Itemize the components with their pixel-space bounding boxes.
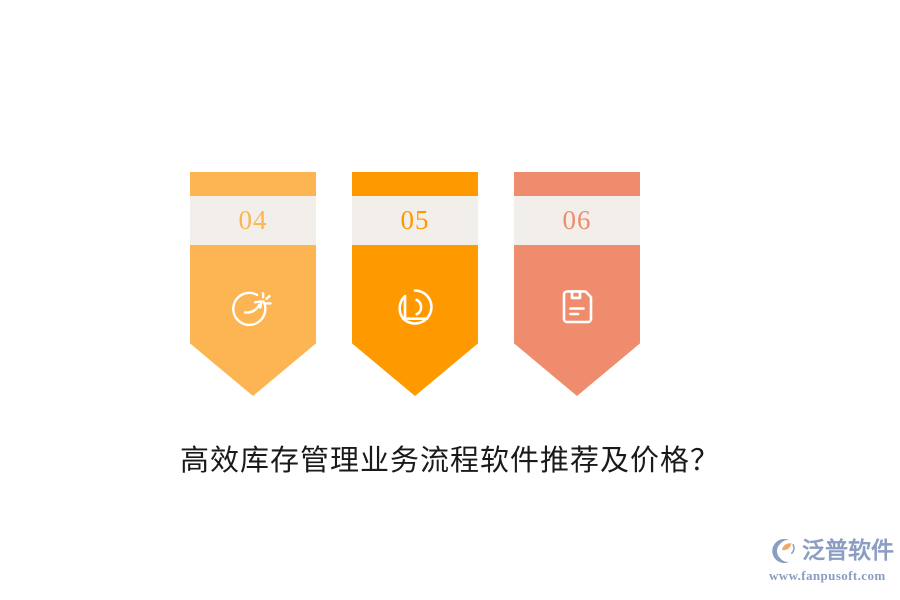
banner-card-05[interactable]: 05: [352, 172, 478, 396]
banner-number-strip: 06: [514, 196, 640, 245]
poster-canvas: 04 05: [0, 0, 900, 600]
banner-number-strip: 04: [190, 196, 316, 245]
fanpu-logo-icon: [768, 537, 798, 565]
banner-number-label: 05: [401, 207, 430, 234]
document-save-icon: [514, 284, 640, 330]
page-title: 高效库存管理业务流程软件推荐及价格？: [0, 437, 900, 479]
banner-number-strip: 05: [352, 196, 478, 245]
banner-number-label: 06: [563, 207, 592, 234]
banner-number-label: 04: [239, 207, 268, 234]
brand-logo[interactable]: 泛普软件 www.fanpusoft.com: [768, 536, 894, 582]
banner-group: 04 05: [190, 172, 680, 398]
play-circle-icon: [352, 284, 478, 330]
growth-target-icon: [190, 284, 316, 330]
logo-website-url: www.fanpusoft.com: [768, 568, 894, 584]
logo-row: 泛普软件: [768, 536, 894, 566]
logo-company-name: 泛普软件: [802, 540, 894, 563]
banner-card-06[interactable]: 06: [514, 172, 640, 396]
banner-card-04[interactable]: 04: [190, 172, 316, 396]
